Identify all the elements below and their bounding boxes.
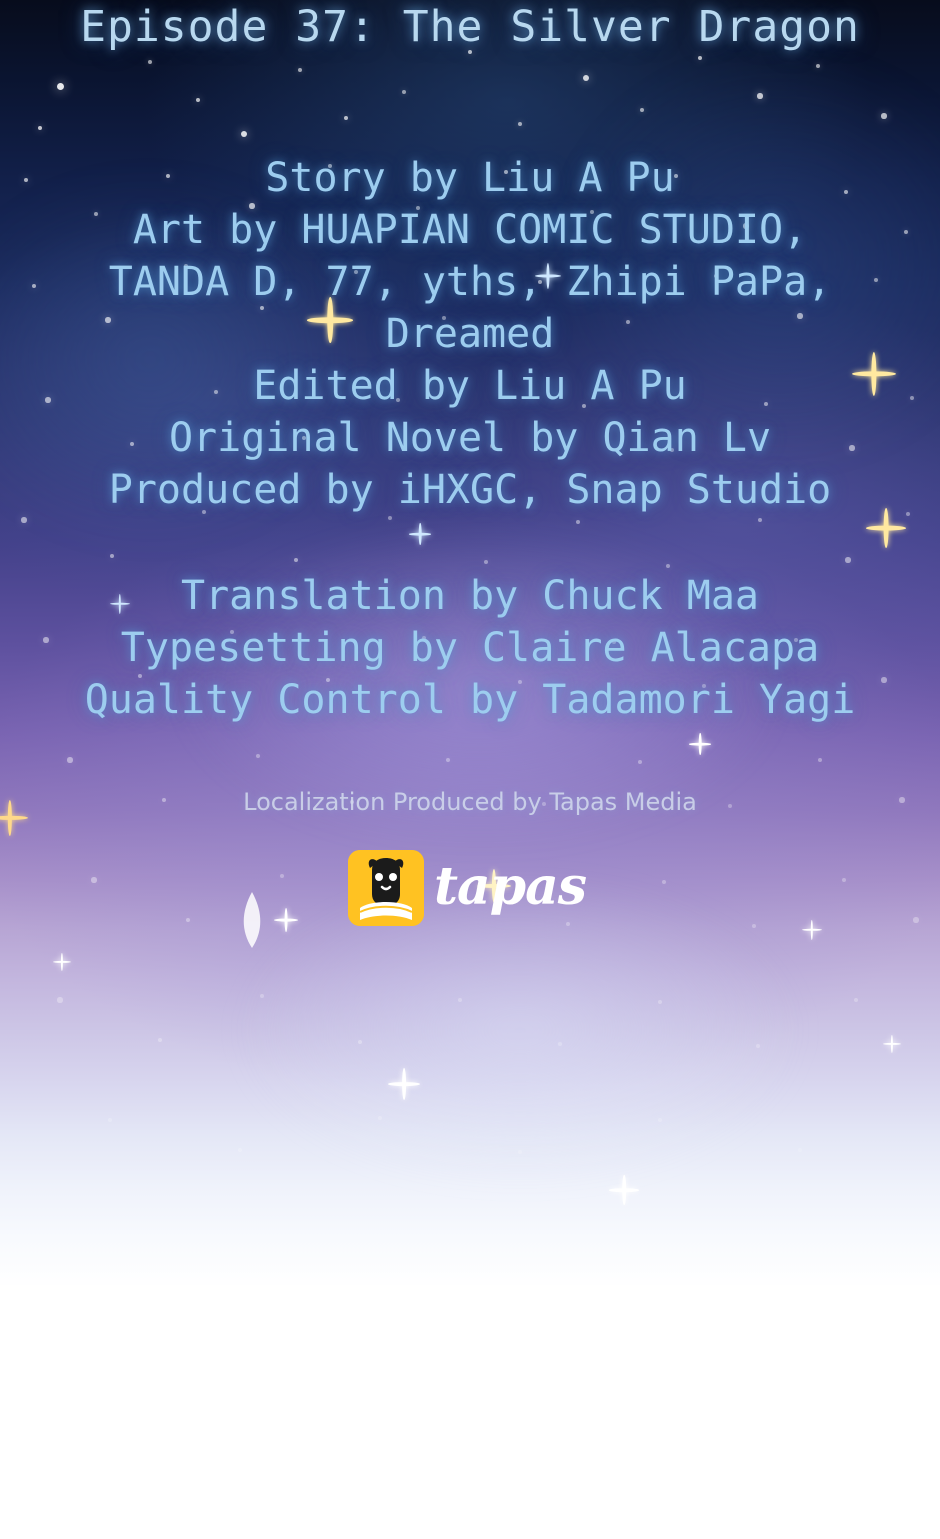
credit-line: Translation by Chuck Maa: [0, 570, 940, 622]
tapas-logo[interactable]: tapas: [348, 850, 598, 928]
credit-line: Typesetting by Claire Alacapa: [0, 622, 940, 674]
credit-line: Original Novel by Qian Lv: [0, 412, 940, 464]
localization-producer-text: Localization Produced by Tapas Media: [0, 788, 940, 816]
bottom-blank-area: [0, 1285, 940, 1539]
credits-main-block: Story by Liu A Pu Art by HUAPIAN COMIC S…: [0, 152, 940, 516]
tapas-mascot-icon: [348, 850, 424, 926]
credits-localization-block: Translation by Chuck Maa Typesetting by …: [0, 570, 940, 726]
credit-line: Edited by Liu A Pu: [0, 360, 940, 412]
credit-line: Art by HUAPIAN COMIC STUDIO,: [0, 204, 940, 256]
credit-line: Story by Liu A Pu: [0, 152, 940, 204]
credit-line: TANDA D, 77, yths, Zhipi PaPa,: [0, 256, 940, 308]
episode-title: Episode 37: The Silver Dragon: [0, 2, 940, 52]
credit-line: Produced by iHXGC, Snap Studio: [0, 464, 940, 516]
comic-credits-page: Episode 37: The Silver Dragon Story by L…: [0, 0, 940, 1539]
tapas-wordmark: tapas: [434, 856, 586, 918]
credit-line: Dreamed: [0, 308, 940, 360]
credit-line: Quality Control by Tadamori Yagi: [0, 674, 940, 726]
